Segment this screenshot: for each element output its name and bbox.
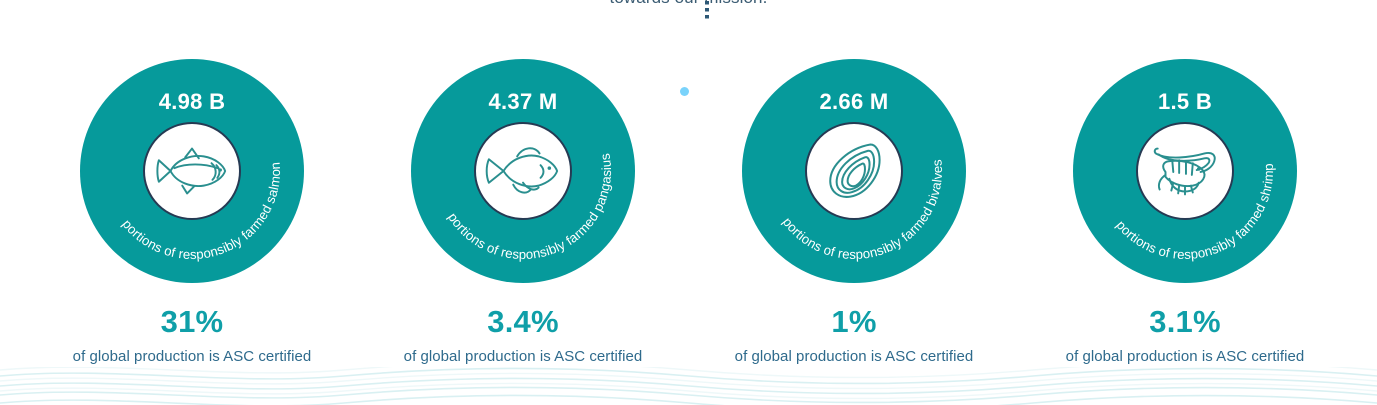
donut-bivalves: portions of responsibly farmed bivalves … (742, 59, 966, 283)
percent-caption-shrimp: of global production is ASC certified (1066, 348, 1305, 365)
icon-badge-salmon (143, 122, 241, 220)
percent-value-pangasius: 3.4% (487, 305, 558, 339)
stats-row: portions of responsibly farmed salmon 4.… (0, 0, 1377, 405)
percent-value-salmon: 31% (161, 305, 224, 339)
percent-caption-salmon: of global production is ASC certified (73, 348, 312, 365)
stat-column-salmon: portions of responsibly farmed salmon 4.… (47, 0, 337, 405)
percent-caption-pangasius: of global production is ASC certified (404, 348, 643, 365)
donut-shrimp: portions of responsibly farmed shrimp 1.… (1073, 59, 1297, 283)
pangasius-icon (484, 139, 562, 203)
percent-value-shrimp: 3.1% (1149, 305, 1220, 339)
donut-pangasius: portions of responsibly farmed pangasius… (411, 59, 635, 283)
percent-caption-bivalves: of global production is ASC certified (735, 348, 974, 365)
stat-column-shrimp: portions of responsibly farmed shrimp 1.… (1040, 0, 1330, 405)
donut-value-bivalves: 2.66 M (742, 89, 966, 115)
donut-value-salmon: 4.98 B (80, 89, 304, 115)
icon-badge-shrimp (1136, 122, 1234, 220)
salmon-icon (153, 139, 231, 203)
bivalve-icon (815, 139, 893, 203)
icon-badge-bivalves (805, 122, 903, 220)
stat-column-pangasius: portions of responsibly farmed pangasius… (378, 0, 668, 405)
percent-value-bivalves: 1% (831, 305, 876, 339)
shrimp-icon (1146, 139, 1224, 203)
donut-value-pangasius: 4.37 M (411, 89, 635, 115)
donut-value-shrimp: 1.5 B (1073, 89, 1297, 115)
donut-salmon: portions of responsibly farmed salmon 4.… (80, 59, 304, 283)
stat-column-bivalves: portions of responsibly farmed bivalves … (709, 0, 999, 405)
icon-badge-pangasius (474, 122, 572, 220)
